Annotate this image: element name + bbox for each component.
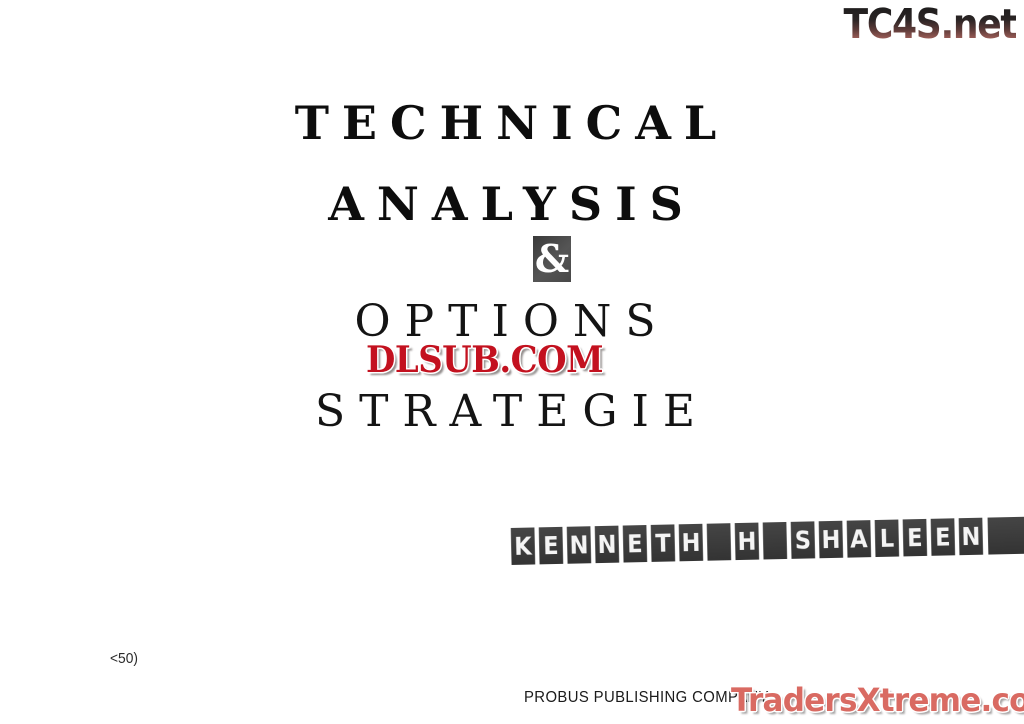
author-letter-tile: E — [539, 527, 563, 565]
book-cover-page: TC4S.net TECHNICAL ANALYSIS & OPTIONS ST… — [0, 0, 1024, 724]
tc4s-watermark: TC4S.net — [843, 4, 1016, 45]
author-letter-tile — [763, 522, 787, 560]
author-tail-tile — [988, 517, 1024, 555]
title-line-technical: TECHNICAL — [0, 100, 1024, 146]
title-line-strategie: STRATEGIE — [0, 390, 1024, 434]
artifact-number: <50) — [0, 650, 595, 667]
author-letter-tile: N — [595, 526, 619, 564]
author-letter-tile: E — [903, 519, 927, 557]
dlsub-watermark: DLSUB.COM — [366, 342, 603, 378]
author-letter-tile: E — [931, 518, 955, 556]
author-letter-tile: N — [567, 526, 591, 564]
title-line-options: OPTIONS — [0, 300, 1024, 344]
author-letter-tile: S — [791, 521, 815, 559]
author-letter-tile: H — [735, 523, 759, 561]
ampersand-block: & — [533, 236, 571, 282]
tradersxtreme-watermark: TradersXtreme.com — [731, 684, 1024, 716]
author-letter-tile: A — [847, 520, 871, 558]
author-letter-tile: K — [511, 527, 535, 565]
author-name-strip: KENNETH H SHALEEN — [510, 517, 1024, 565]
author-letter-tile: N — [959, 518, 983, 556]
author-letter-tile: H — [679, 524, 703, 562]
author-letter-tile: L — [875, 520, 899, 558]
author-letter-tile: H — [819, 521, 843, 559]
author-letter-tile: E — [623, 525, 647, 563]
author-letter-tile — [707, 523, 731, 561]
author-letter-tile: T — [651, 524, 675, 562]
title-line-analysis: ANALYSIS — [0, 181, 1024, 227]
